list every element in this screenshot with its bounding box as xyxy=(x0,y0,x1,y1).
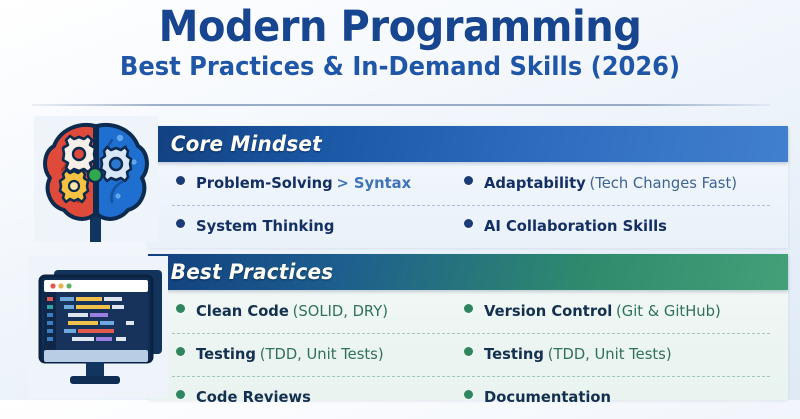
list-item-label: Clean Code xyxy=(196,302,289,320)
list-item[interactable]: Adaptability(Tech Changes Fast) xyxy=(436,176,788,192)
infographic-poster: Modern Programming Best Practices & In-D… xyxy=(0,0,800,400)
bullet-row: Code Reviews Documentation xyxy=(148,376,788,419)
section-heading-label: Core Mindset xyxy=(148,132,322,156)
section-core-mindset: Core Mindset Problem-Solving> Syntax Ada… xyxy=(148,126,788,248)
list-item-label: AI Collaboration Skills xyxy=(484,217,667,235)
list-item-note: (Tech Changes Fast) xyxy=(590,174,737,192)
bullet-rows-core-mindset: Problem-Solving> Syntax Adaptability(Tec… xyxy=(148,162,788,248)
bullet-dot-icon xyxy=(176,347,185,356)
bullet-row: Testing(TDD, Unit Tests) Testing(TDD, Un… xyxy=(148,333,788,376)
bullet-row: Problem-Solving> Syntax Adaptability(Tec… xyxy=(148,162,788,205)
bullet-dot-icon xyxy=(464,219,473,228)
list-item-label: Code Reviews xyxy=(196,388,311,406)
list-item[interactable]: Testing(TDD, Unit Tests) xyxy=(436,347,788,363)
list-item[interactable]: Testing(TDD, Unit Tests) xyxy=(148,347,436,363)
list-item[interactable]: AI Collaboration Skills xyxy=(436,219,788,235)
list-item-label: Problem-Solving xyxy=(196,174,333,192)
bullet-dot-icon xyxy=(464,304,473,313)
list-item[interactable]: Clean Code(SOLID, DRY) xyxy=(148,304,436,320)
list-item-note: (Git & GitHub) xyxy=(616,302,721,320)
page-subtitle: Best Practices & In-Demand Skills (2026) xyxy=(28,50,772,81)
list-item-label: Testing xyxy=(484,345,544,363)
bullet-dot-icon xyxy=(176,304,185,313)
list-item[interactable]: Version Control(Git & GitHub) xyxy=(436,304,788,320)
section-header-bar-core-mindset: Core Mindset xyxy=(148,126,788,162)
bullet-dot-icon xyxy=(464,347,473,356)
code-monitor-icon xyxy=(28,256,168,398)
list-item-label: System Thinking xyxy=(196,217,334,235)
list-item[interactable]: System Thinking xyxy=(148,219,436,235)
brain-gears-icon xyxy=(34,116,158,242)
section-heading-label: Best Practices xyxy=(148,260,333,284)
bullet-dot-icon xyxy=(464,390,473,399)
list-item-label: Testing xyxy=(196,345,256,363)
bullet-dot-icon xyxy=(176,219,185,228)
bullet-row: Clean Code(SOLID, DRY) Version Control(G… xyxy=(148,290,788,333)
title-block: Modern Programming Best Practices & In-D… xyxy=(0,0,800,100)
section-header-bar-best-practices: Best Practices xyxy=(148,254,788,290)
list-item-note: (SOLID, DRY) xyxy=(293,302,388,320)
page-title: Modern Programming xyxy=(28,0,772,50)
section-best-practices: Best Practices Clean Code(SOLID, DRY) Ve… xyxy=(148,254,788,400)
title-divider xyxy=(32,104,770,106)
bullet-dot-icon xyxy=(176,176,185,185)
list-item-label: Documentation xyxy=(484,388,611,406)
list-item-label: Version Control xyxy=(484,302,612,320)
list-item-label: Adaptability xyxy=(484,174,586,192)
list-item[interactable]: Code Reviews xyxy=(148,390,436,406)
list-item-accent: > Syntax xyxy=(336,174,411,192)
list-item[interactable]: Documentation xyxy=(436,390,788,406)
bullet-row: System Thinking AI Collaboration Skills xyxy=(148,205,788,248)
list-item[interactable]: Problem-Solving> Syntax xyxy=(148,176,436,192)
bullet-dot-icon xyxy=(176,390,185,399)
list-item-note: (TDD, Unit Tests) xyxy=(548,345,672,363)
bullet-dot-icon xyxy=(464,176,473,185)
list-item-note: (TDD, Unit Tests) xyxy=(260,345,384,363)
